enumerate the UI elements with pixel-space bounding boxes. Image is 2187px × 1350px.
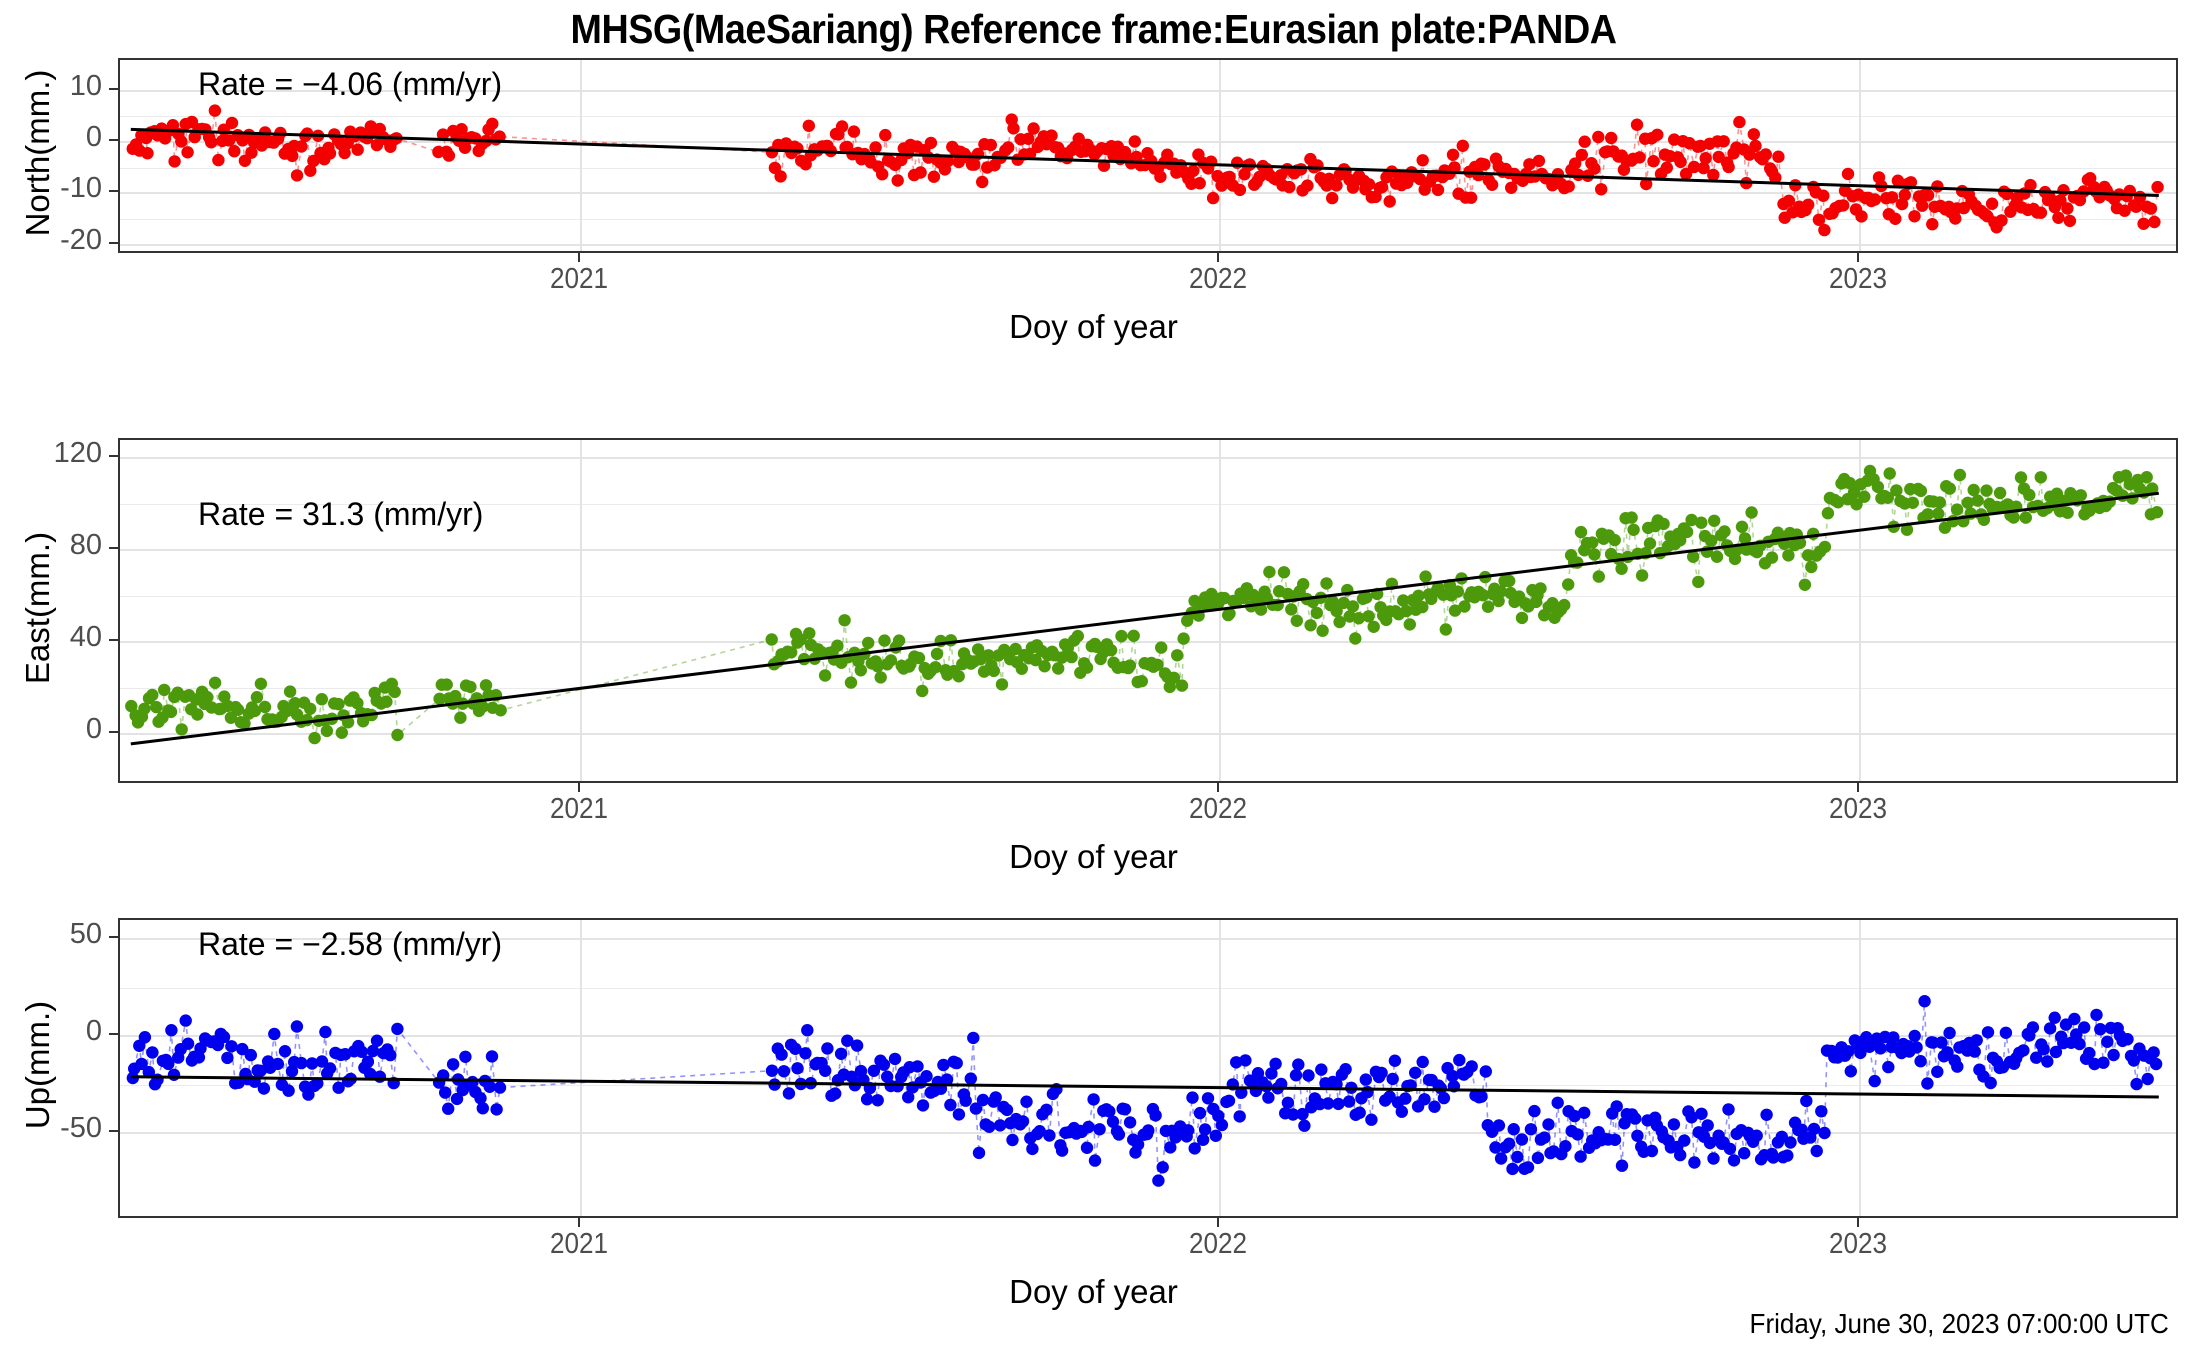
x-axis-tick-label: 2022 [1164,263,1272,296]
y-axis-tick-label: 120 [54,437,102,470]
gridline-horizontal [120,192,2176,194]
gridline-horizontal-minor [120,219,2176,220]
gridline-horizontal [120,457,2176,459]
rate-annotation-north: Rate = −4.06 (mm/yr) [198,66,502,103]
gridline-vertical [580,440,582,781]
y-axis-tick-mark [109,190,118,192]
x-axis-tick-mark [1217,783,1219,792]
x-axis-label-north: Doy of year [0,308,2187,346]
y-axis-tick-mark [109,1130,118,1132]
y-axis-tick-label: 40 [70,621,102,654]
x-axis-tick-mark [1857,1218,1859,1227]
x-axis-tick-label: 2021 [525,263,633,296]
gridline-vertical [1859,60,1861,251]
x-axis-tick-mark [578,253,580,262]
y-axis-tick-label: 10 [70,70,102,103]
gridline-vertical [1859,920,1861,1216]
y-axis-tick-mark [109,547,118,549]
y-axis-label-north: North(mm.) [19,33,57,273]
y-axis-tick-mark [109,139,118,141]
y-axis-tick-label: 0 [86,713,102,746]
gridline-horizontal-minor [120,688,2176,689]
y-axis-tick-mark [109,639,118,641]
x-axis-label-east: Doy of year [0,838,2187,876]
gridline-vertical [1219,920,1221,1216]
gridline-horizontal [120,641,2176,643]
gridline-vertical [580,920,582,1216]
plot-area-up [118,918,2178,1218]
x-axis-tick-label: 2022 [1164,793,1272,826]
y-axis-tick-label: 80 [70,529,102,562]
y-axis-tick-mark [109,88,118,90]
gridline-horizontal-minor [120,1085,2176,1086]
y-axis-label-east: East(mm.) [19,488,57,728]
gridline-vertical [580,60,582,251]
gridline-vertical [1859,440,1861,781]
gps-timeseries-figure: MHSG(MaeSariang) Reference frame:Eurasia… [0,0,2187,1350]
gridline-vertical [1219,440,1221,781]
gridline-vertical [1219,60,1221,251]
y-axis-tick-label: 50 [70,918,102,951]
y-axis-tick-label: -10 [60,172,102,205]
gridline-horizontal [120,1132,2176,1134]
x-axis-tick-mark [1217,1218,1219,1227]
y-axis-tick-mark [109,936,118,938]
x-axis-tick-mark [578,1218,580,1227]
y-axis-tick-label: 0 [86,1015,102,1048]
x-axis-tick-label: 2023 [1804,793,1912,826]
x-axis-tick-label: 2021 [525,793,633,826]
page-title: MHSG(MaeSariang) Reference frame:Eurasia… [87,6,2099,53]
y-axis-tick-mark [109,731,118,733]
gridline-horizontal [120,733,2176,735]
y-axis-tick-mark [109,242,118,244]
x-axis-tick-label: 2022 [1164,1228,1272,1261]
gridline-horizontal-minor [120,168,2176,169]
y-axis-label-up: Up(mm.) [19,945,57,1185]
gridline-horizontal [120,141,2176,143]
x-axis-tick-label: 2021 [525,1228,633,1261]
gridline-horizontal-minor [120,988,2176,989]
x-axis-tick-mark [578,783,580,792]
gridline-horizontal-minor [120,116,2176,117]
gridline-horizontal-minor [120,596,2176,597]
timestamp-footer: Friday, June 30, 2023 07:00:00 UTC [1750,1308,2169,1340]
y-axis-tick-label: 0 [86,121,102,154]
gridline-horizontal [120,1035,2176,1037]
x-axis-tick-mark [1857,253,1859,262]
y-axis-tick-label: -50 [60,1112,102,1145]
gridline-horizontal [120,549,2176,551]
x-axis-tick-mark [1857,783,1859,792]
y-axis-tick-label: -20 [60,224,102,257]
x-axis-tick-mark [1217,253,1219,262]
gridline-horizontal [120,244,2176,246]
y-axis-tick-mark [109,455,118,457]
y-axis-tick-mark [109,1033,118,1035]
x-axis-tick-label: 2023 [1804,1228,1912,1261]
rate-annotation-up: Rate = −2.58 (mm/yr) [198,926,502,963]
plot-area-east [118,438,2178,783]
x-axis-tick-label: 2023 [1804,263,1912,296]
rate-annotation-east: Rate = 31.3 (mm/yr) [198,496,483,533]
x-axis-label-up: Doy of year [0,1273,2187,1311]
